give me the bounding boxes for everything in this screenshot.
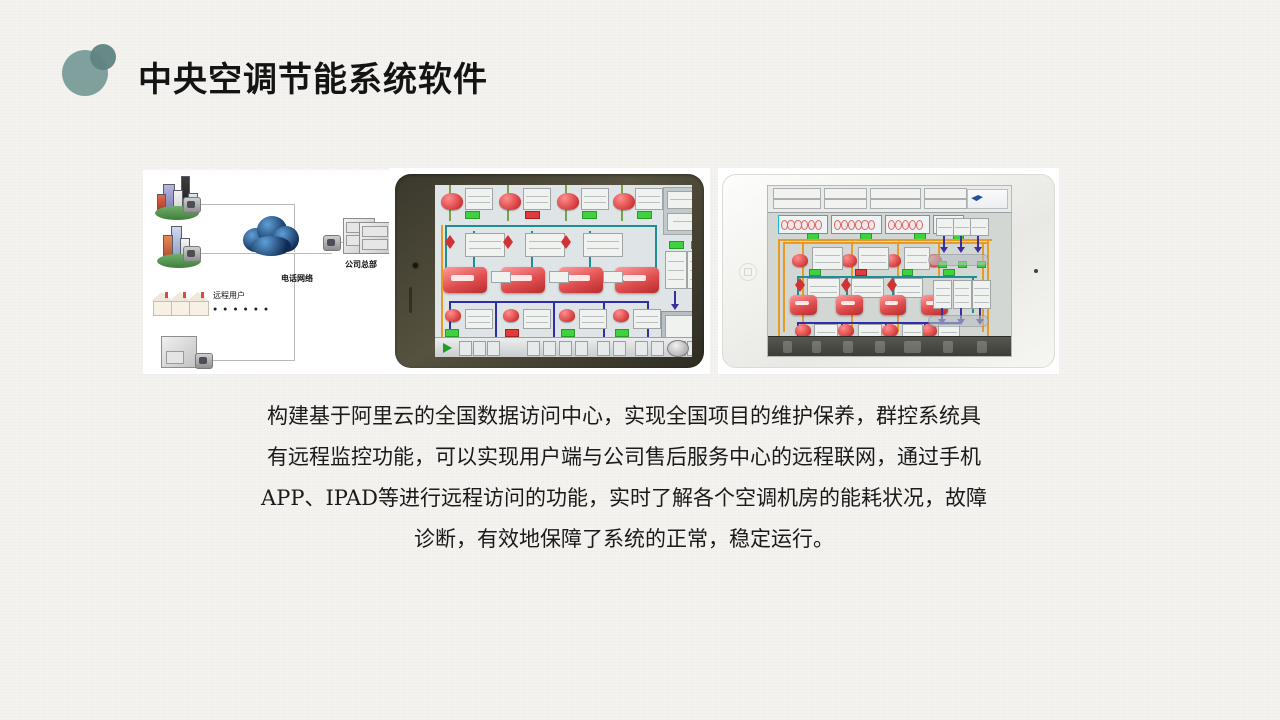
- page-title: 中央空调节能系统软件: [138, 58, 488, 102]
- headquarters-label: 公司总部: [345, 259, 377, 270]
- description-line-1: 构建基于阿里云的全国数据访问中心，实现全国项目的维护保养，群控系统具: [200, 396, 1048, 437]
- toolbar-icon-11[interactable]: [651, 341, 664, 355]
- run-play-icon[interactable]: [441, 341, 453, 353]
- dark-tablet-screen: [435, 185, 692, 357]
- chilled-pump-1: [445, 309, 461, 322]
- toolbar-icon-3[interactable]: [487, 341, 500, 355]
- dual-circle-logo: [62, 44, 114, 96]
- logo-circle-small: [90, 44, 116, 70]
- modem-icon-3: [195, 353, 213, 369]
- scada-diagram-white: [768, 186, 1011, 356]
- cooling-pump-1: [441, 193, 463, 210]
- toolbar-icon-4[interactable]: [527, 341, 540, 355]
- description-line-4: 诊断，有效地保障了系统的正常，稳定运行。: [200, 519, 1048, 560]
- toolbar-close-icon[interactable]: [783, 341, 793, 353]
- front-camera-icon: [1034, 269, 1038, 273]
- description-line-3: APP、IPAD等进行远程访问的功能，实时了解各个空调机房的能耗状况，故障: [200, 478, 1048, 519]
- headquarters-server-icon-2: [359, 222, 389, 254]
- chilled-pump-1: [795, 324, 811, 337]
- workstation-icon: [161, 336, 197, 368]
- toolbar-icon-1[interactable]: [459, 341, 472, 355]
- scada-toolbar-white[interactable]: [768, 336, 1011, 356]
- chilled-pump-4: [613, 309, 629, 322]
- dark-tablet-bezel: [395, 174, 704, 368]
- airflow-arrow-3: [977, 234, 979, 248]
- cooling-tower-bank-1: [778, 215, 829, 234]
- toolbar-knob[interactable]: [667, 340, 689, 357]
- cooling-pump-1: [792, 254, 808, 267]
- cloud-label: 电话网络: [281, 273, 313, 284]
- side-button: [409, 287, 412, 313]
- airflow-arrow-1: [674, 291, 676, 305]
- remote-users-ellipsis: ● ● ● ● ● ●: [213, 306, 270, 313]
- company-logo-icon: [967, 189, 1008, 209]
- white-tablet-screen: [767, 185, 1012, 357]
- chilled-pump-3: [882, 324, 898, 337]
- home-button-icon[interactable]: [739, 263, 757, 281]
- toolbar-phone-icon[interactable]: [843, 341, 853, 353]
- airflow-arrow-1: [943, 234, 945, 248]
- chilled-pump-2: [503, 309, 519, 322]
- cooling-pump-2: [499, 193, 521, 210]
- modem-icon-1: [183, 197, 201, 213]
- white-tablet-bezel: [722, 174, 1055, 368]
- toolbar-icon-9[interactable]: [613, 341, 626, 355]
- scada-toolbar-dark[interactable]: [435, 337, 692, 357]
- scada-diagram-dark: [435, 185, 692, 357]
- airflow-arrow-2: [960, 234, 962, 248]
- toolbar-icon-8[interactable]: [597, 341, 610, 355]
- network-diagram-image: 电话网络 公司总部 远程用户 ● ● ● ● ● ●: [143, 170, 389, 374]
- chiller-unit-1: [790, 295, 817, 315]
- modem-icon-2: [183, 246, 201, 262]
- cloud-network-icon: [239, 212, 301, 260]
- cooling-pump-3: [557, 193, 579, 210]
- toolbar-tool-icon[interactable]: [875, 341, 885, 353]
- house-icon-3: [187, 292, 209, 314]
- toolbar-settings-icon[interactable]: [943, 341, 953, 353]
- toolbar-exit-icon[interactable]: [977, 341, 987, 353]
- cooling-tower-bank-3: [885, 215, 931, 234]
- cooling-pump-4: [613, 193, 635, 210]
- modem-icon-4: [323, 235, 341, 251]
- chiller-unit-3: [880, 295, 907, 315]
- description-paragraph: 构建基于阿里云的全国数据访问中心，实现全国项目的维护保养，群控系统具 有远程监控…: [200, 396, 1048, 560]
- toolbar-grid-icon[interactable]: [812, 341, 822, 353]
- cooling-tower-bank-2: [831, 215, 882, 234]
- media-row: 电话网络 公司总部 远程用户 ● ● ● ● ● ●: [143, 168, 1059, 374]
- remote-users-label: 远程用户: [213, 290, 245, 301]
- white-tablet-photo: [718, 168, 1059, 374]
- chiller-unit-1: [443, 267, 487, 293]
- description-line-2: 有远程监控功能，可以实现用户端与公司售后服务中心的远程联网，通过手机: [200, 437, 1048, 478]
- chilled-pump-3: [559, 309, 575, 322]
- scada-header-bar: [768, 186, 1011, 213]
- toolbar-icon-7[interactable]: [575, 341, 588, 355]
- front-camera-icon: [413, 263, 418, 268]
- toolbar-keyboard-icon[interactable]: [904, 341, 921, 353]
- toolbar-icon-6[interactable]: [559, 341, 572, 355]
- toolbar-icon-10[interactable]: [635, 341, 648, 355]
- chilled-pump-2: [838, 324, 854, 337]
- toolbar-icon-2[interactable]: [473, 341, 486, 355]
- chiller-unit-2: [836, 295, 863, 315]
- toolbar-icon-5[interactable]: [543, 341, 556, 355]
- dark-tablet-photo: [389, 168, 710, 374]
- cooling-pump-2: [841, 254, 857, 267]
